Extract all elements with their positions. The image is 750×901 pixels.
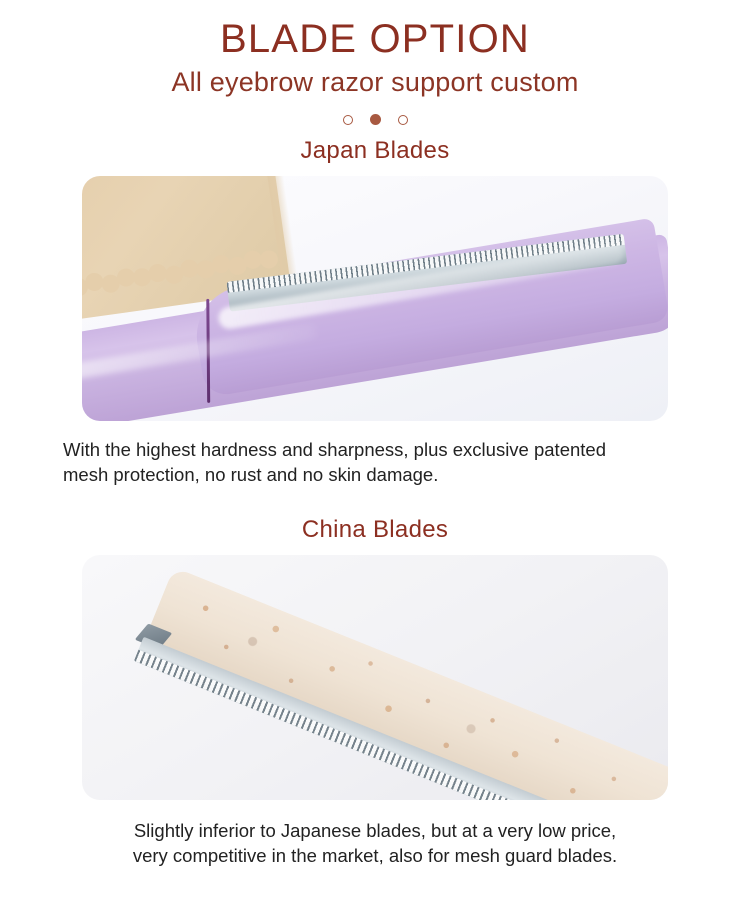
speckled-razor-illustration: [134, 567, 668, 800]
description-china-line-1: Slightly inferior to Japanese blades, bu…: [55, 818, 695, 844]
pagination-dots: [0, 113, 750, 127]
product-photo-china: [82, 555, 668, 800]
pagination-dot-3[interactable]: [398, 115, 408, 125]
description-china: Slightly inferior to Japanese blades, bu…: [55, 818, 695, 869]
description-japan: With the highest hardness and sharpness,…: [59, 437, 691, 488]
pagination-dot-2-active[interactable]: [370, 114, 381, 125]
section-title-japan: Japan Blades: [0, 127, 750, 165]
page-header: BLADE OPTION All eyebrow razor support c…: [0, 0, 750, 100]
description-japan-line-2: mesh protection, no rust and no skin dam…: [63, 462, 691, 488]
description-japan-line-1: With the highest hardness and sharpness,…: [63, 437, 691, 463]
page-title: BLADE OPTION: [0, 18, 750, 60]
section-title-china: China Blades: [0, 506, 750, 544]
description-china-line-2: very competitive in the market, also for…: [55, 843, 695, 869]
product-photo-japan: [82, 176, 668, 421]
page-subtitle: All eyebrow razor support custom: [0, 66, 750, 100]
section-japan-blades: Japan Blades: [0, 127, 750, 488]
product-detail-page: BLADE OPTION All eyebrow razor support c…: [0, 0, 750, 901]
section-china-blades: China Blades Slightly inferior to Japane…: [0, 506, 750, 869]
pagination-dot-1[interactable]: [343, 115, 353, 125]
